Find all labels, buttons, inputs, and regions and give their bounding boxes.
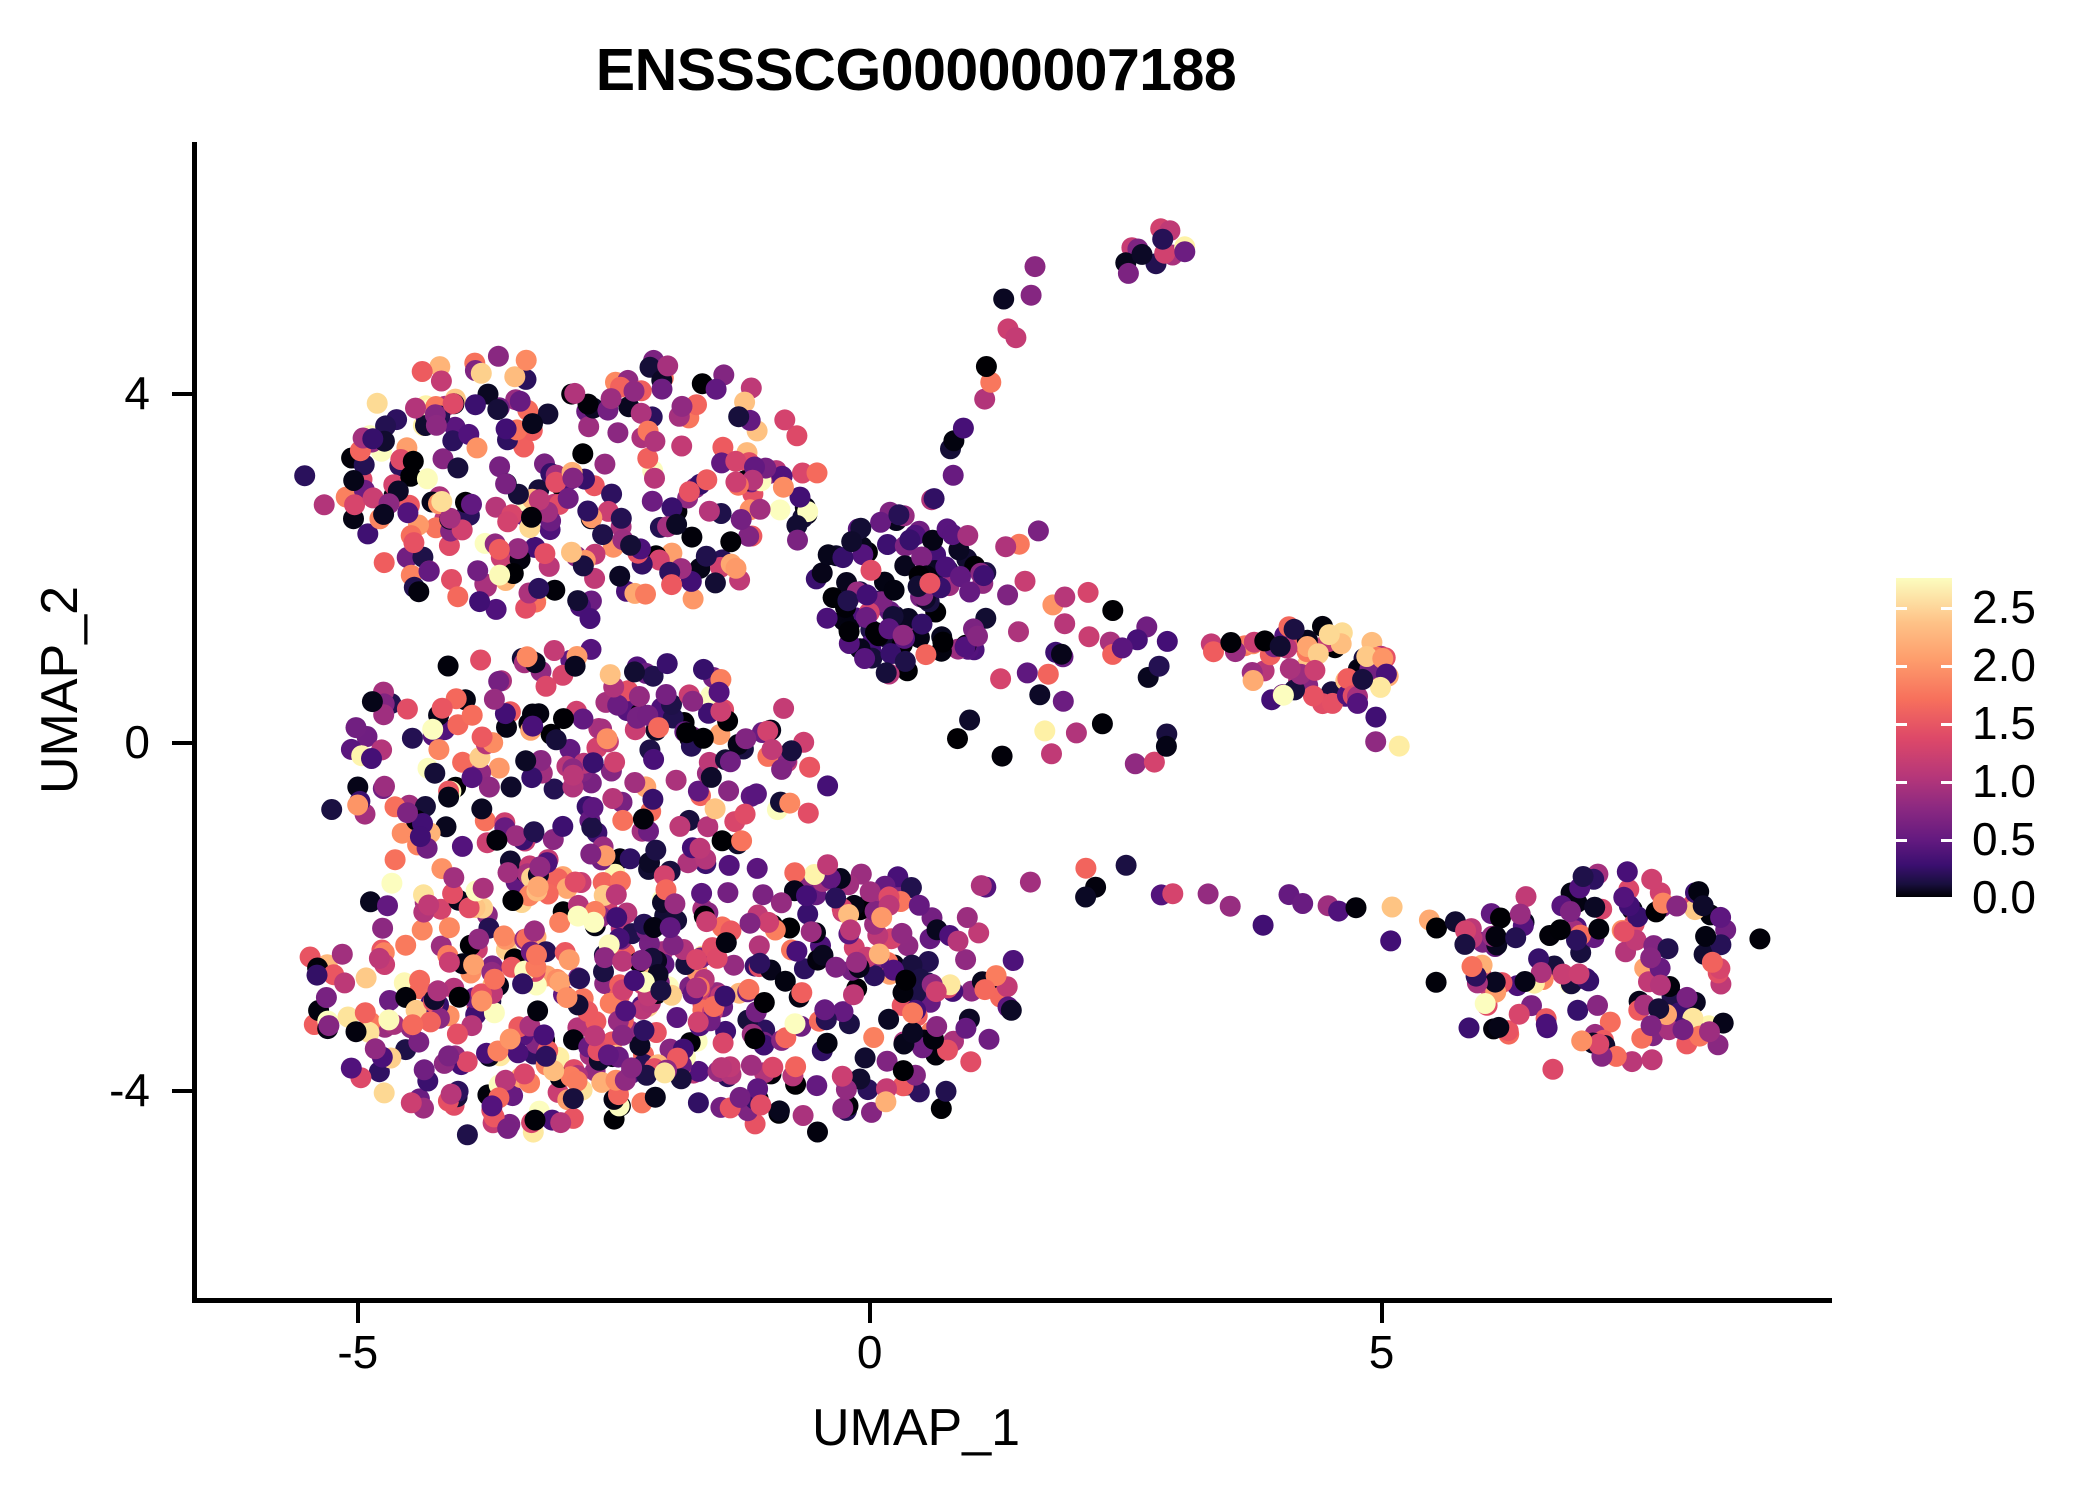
scatter-point (1587, 995, 1608, 1016)
scatter-point (769, 1100, 790, 1121)
scatter-point (854, 648, 875, 669)
scatter-point (947, 728, 968, 749)
scatter-point (688, 1012, 709, 1033)
scatter-point (806, 1075, 827, 1096)
scatter-point (825, 888, 846, 909)
scatter-point (666, 514, 687, 535)
scatter-point (344, 494, 365, 515)
scatter-point (412, 361, 433, 382)
scatter-point (374, 552, 395, 573)
scatter-point (712, 830, 733, 851)
scatter-point (558, 488, 579, 509)
scatter-point (609, 566, 630, 587)
scatter-point (967, 626, 988, 647)
scatter-point (403, 532, 424, 553)
scatter-point (462, 705, 483, 726)
scatter-point (546, 729, 567, 750)
scatter-point (798, 803, 819, 824)
scatter-point (633, 809, 654, 830)
colorbar-label-1-5: 1.5 (1972, 696, 2036, 750)
scatter-point (1462, 956, 1483, 977)
y-tick-mark-neg4 (172, 1089, 192, 1093)
scatter-point (807, 1122, 828, 1143)
scatter-point (397, 699, 418, 720)
scatter-point (911, 547, 932, 568)
scatter-point (1389, 736, 1410, 757)
scatter-point (841, 531, 862, 552)
scatter-point (424, 763, 445, 784)
scatter-point (565, 656, 586, 677)
scatter-point (373, 504, 394, 525)
scatter-point (660, 917, 681, 938)
scatter-point (955, 949, 976, 970)
y-tick-mark-0 (172, 741, 192, 745)
scatter-point (567, 590, 588, 611)
scatter-point (720, 531, 741, 552)
scatter-point (1640, 947, 1661, 968)
scatter-point (1273, 685, 1294, 706)
scatter-point (1475, 993, 1496, 1014)
scatter-point (645, 1087, 666, 1108)
scatter-point (1695, 926, 1716, 947)
scatter-point (690, 838, 711, 859)
scatter-point (688, 1092, 709, 1113)
colorbar-tick-1-0-right (1941, 781, 1952, 784)
scatter-point (728, 406, 749, 427)
scatter-point (563, 1088, 584, 1109)
scatter-point (536, 1046, 557, 1067)
scatter-point (1380, 930, 1401, 951)
scatter-point (536, 676, 557, 697)
scatter-point (343, 470, 364, 491)
scatter-point (959, 582, 980, 603)
scatter-point (902, 1022, 923, 1043)
scatter-point (361, 748, 382, 769)
scatter-point (1550, 919, 1571, 940)
scatter-point (431, 371, 452, 392)
scatter-point (666, 770, 687, 791)
colorbar-tick-0-5-left (1896, 839, 1907, 842)
scatter-point (1677, 987, 1698, 1008)
scatter-point (496, 418, 517, 439)
scatter-point (1490, 908, 1511, 929)
scatter-point (527, 1000, 548, 1021)
scatter-point (569, 968, 590, 989)
scatter-point (731, 830, 752, 851)
scatter-point (993, 289, 1014, 310)
scatter-point (1079, 626, 1100, 647)
scatter-point (523, 821, 544, 842)
scatter-point (661, 574, 682, 595)
scatter-point (1034, 720, 1055, 741)
scatter-point (1584, 897, 1605, 918)
scatter-point (562, 468, 583, 489)
scatter-point (1243, 670, 1264, 691)
scatter-point (746, 783, 767, 804)
scatter-point (757, 721, 778, 742)
scatter-point (899, 529, 920, 550)
scatter-point (731, 509, 752, 530)
scatter-point (891, 923, 912, 944)
scatter-point (656, 684, 677, 705)
scatter-point (909, 895, 930, 916)
colorbar-label-2-5: 2.5 (1972, 580, 2036, 634)
scatter-point (1132, 244, 1153, 265)
scatter-point (825, 957, 846, 978)
scatter-point (497, 1118, 518, 1139)
scatter-point (346, 717, 367, 738)
scatter-point (846, 952, 867, 973)
scatter-point (1054, 587, 1075, 608)
y-axis-line (192, 142, 197, 1303)
scatter-point (550, 1112, 571, 1133)
scatter-point (876, 662, 897, 683)
scatter-point (839, 621, 860, 642)
scatter-point (449, 987, 470, 1008)
scatter-point (771, 892, 792, 913)
scatter-point (318, 1015, 339, 1036)
scatter-point (402, 728, 423, 749)
scatter-point (1092, 713, 1113, 734)
scatter-point (321, 799, 342, 820)
scatter-point (621, 1057, 642, 1078)
scatter-point (620, 848, 641, 869)
scatter-point (1588, 919, 1609, 940)
scatter-point (316, 987, 337, 1008)
scatter-point (1003, 950, 1024, 971)
scatter-point (710, 701, 731, 722)
scatter-point (895, 651, 916, 672)
scatter-point (470, 650, 491, 671)
scatter-point (372, 918, 393, 939)
scatter-point (607, 422, 628, 443)
scatter-point (528, 578, 549, 599)
scatter-point (1152, 229, 1173, 250)
scatter-point (482, 1095, 503, 1116)
x-tick-mark-0 (868, 1303, 872, 1323)
scatter-point (686, 949, 707, 970)
scatter-point (397, 502, 418, 523)
scatter-point (1303, 685, 1324, 706)
scatter-point (774, 409, 795, 430)
scatter-point (1078, 582, 1099, 603)
scatter-point (426, 415, 447, 436)
scatter-point (624, 661, 645, 682)
scatter-point (1454, 934, 1475, 955)
scatter-point (895, 970, 916, 991)
scatter-point (510, 391, 531, 412)
scatter-point (374, 1082, 395, 1103)
scatter-point (486, 830, 507, 851)
scatter-point (932, 632, 953, 653)
scatter-point (521, 507, 542, 528)
scatter-point (484, 689, 505, 710)
scatter-point (1352, 669, 1373, 690)
scatter-point (1041, 743, 1062, 764)
colorbar-label-2-0: 2.0 (1972, 638, 2036, 692)
scatter-point (948, 931, 969, 952)
scatter-point (701, 767, 722, 788)
scatter-point (893, 1060, 914, 1081)
scatter-point (447, 1024, 468, 1045)
scatter-point (801, 921, 822, 942)
colorbar-tick-2-5-left (1896, 607, 1907, 610)
scatter-point (696, 546, 717, 567)
scatter-point (580, 844, 601, 865)
scatter-point (773, 477, 794, 498)
scatter-point (1054, 613, 1075, 634)
scatter-point (1008, 621, 1029, 642)
scatter-point (781, 740, 802, 761)
x-tick-mark-neg5 (356, 1303, 360, 1323)
scatter-point (516, 350, 537, 371)
scatter-point (417, 468, 438, 489)
scatter-point (600, 664, 621, 685)
scatter-point (1116, 855, 1137, 876)
scatter-point (877, 534, 898, 555)
x-axis-title: UMAP_1 (0, 1398, 1832, 1458)
scatter-point (522, 716, 543, 737)
scatter-point (860, 881, 881, 902)
scatter-point (870, 512, 891, 533)
x-tick-label-0: 0 (790, 1325, 950, 1379)
scatter-point (561, 542, 582, 563)
x-axis-line (192, 1298, 1832, 1303)
scatter-point (747, 858, 768, 879)
scatter-point (762, 1057, 783, 1078)
scatter-point (584, 1025, 605, 1046)
scatter-point (1025, 256, 1046, 277)
scatter-point (878, 1009, 899, 1030)
scatter-point (493, 925, 514, 946)
scatter-point (1542, 1059, 1563, 1080)
scatter-point (960, 1051, 981, 1072)
scatter-point (686, 977, 707, 998)
scatter-point (667, 1007, 688, 1028)
scatter-point (717, 882, 738, 903)
colorbar-gradient (1896, 578, 1952, 897)
scatter-point (629, 686, 650, 707)
scatter-point (807, 462, 828, 483)
scatter-point (1365, 731, 1386, 752)
scatter-point (1280, 658, 1301, 679)
scatter-point (525, 1110, 546, 1131)
scatter-point (706, 379, 727, 400)
scatter-point (495, 473, 516, 494)
scatter-points-layer (194, 142, 1832, 1300)
scatter-point (758, 912, 779, 933)
scatter-point (973, 565, 994, 586)
scatter-point (580, 608, 601, 629)
scatter-point (620, 535, 641, 556)
scatter-point (915, 644, 936, 665)
scatter-point (612, 1025, 633, 1046)
scatter-point (498, 862, 519, 883)
scatter-point (601, 388, 622, 409)
scatter-point (401, 1092, 422, 1113)
page-title: ENSSSCG00000007188 (0, 36, 1832, 104)
scatter-point (420, 1011, 441, 1032)
scatter-point (1038, 664, 1059, 685)
scatter-point (385, 849, 406, 870)
scatter-point (461, 494, 482, 515)
scatter-point (1710, 907, 1731, 928)
scatter-point (957, 525, 978, 546)
scatter-point (567, 1071, 588, 1092)
scatter-point (314, 494, 335, 515)
scatter-point (294, 465, 315, 486)
scatter-point (1017, 662, 1038, 683)
scatter-point (377, 895, 398, 916)
scatter-point (642, 491, 663, 512)
scatter-point (612, 810, 633, 831)
scatter-point (797, 904, 818, 925)
scatter-point (644, 468, 665, 489)
scatter-point (438, 787, 459, 808)
scatter-point (735, 728, 756, 749)
scatter-point (403, 451, 424, 472)
scatter-point (564, 383, 585, 404)
scatter-point (971, 875, 992, 896)
scatter-point (526, 944, 547, 965)
scatter-point (863, 1027, 884, 1048)
colorbar-tick-1-0-left (1896, 781, 1907, 784)
scatter-point (869, 944, 890, 965)
scatter-point (1510, 904, 1531, 925)
scatter-point (926, 981, 947, 1002)
scatter-point (770, 499, 791, 520)
scatter-point (607, 695, 628, 716)
scatter-point (369, 948, 390, 969)
scatter-point (754, 992, 775, 1013)
scatter-point (696, 911, 717, 932)
scatter-point (409, 970, 430, 991)
scatter-point (1118, 263, 1139, 284)
scatter-point (832, 1066, 853, 1087)
scatter-point (912, 614, 933, 635)
scatter-point (469, 591, 490, 612)
scatter-point (615, 1000, 636, 1021)
scatter-point (959, 710, 980, 731)
scatter-point (1426, 972, 1447, 993)
scatter-point (1505, 927, 1526, 948)
scatter-point (1053, 691, 1074, 712)
scatter-point (635, 584, 656, 605)
scatter-point (1028, 520, 1049, 541)
scatter-point (471, 991, 492, 1012)
scatter-point (1536, 1014, 1557, 1035)
scatter-point (817, 1033, 838, 1054)
scatter-point (1370, 677, 1391, 698)
scatter-point (439, 917, 460, 938)
scatter-point (840, 919, 861, 940)
scatter-point (1666, 896, 1687, 917)
scatter-point (648, 717, 669, 738)
scatter-point (791, 982, 812, 1003)
scatter-point (506, 825, 527, 846)
colorbar-label-0-5: 0.5 (1972, 812, 2036, 866)
scatter-point (508, 538, 529, 559)
scatter-point (657, 355, 678, 376)
scatter-point (471, 798, 492, 819)
scatter-point (457, 1051, 478, 1072)
scatter-point (515, 750, 536, 771)
scatter-point (1486, 926, 1507, 947)
scatter-point (1749, 928, 1770, 949)
scatter-point (1509, 1004, 1530, 1025)
scatter-point (381, 873, 402, 894)
scatter-point (976, 356, 997, 377)
scatter-point (463, 954, 484, 975)
scatter-point (1284, 619, 1305, 640)
scatter-point (468, 929, 489, 950)
y-tick-mark-4 (172, 392, 192, 396)
scatter-point (654, 1062, 675, 1083)
scatter-point (524, 920, 545, 941)
scatter-point (714, 986, 735, 1007)
scatter-point (563, 765, 584, 786)
scatter-point (955, 1018, 976, 1039)
scatter-point (832, 1098, 853, 1119)
scatter-point (893, 625, 914, 646)
scatter-point (559, 949, 580, 970)
scatter-point (438, 1045, 459, 1066)
scatter-point (439, 952, 460, 973)
scatter-point (583, 752, 604, 773)
x-tick-label-neg5: -5 (278, 1325, 438, 1379)
scatter-point (1650, 975, 1671, 996)
scatter-point (594, 947, 615, 968)
scatter-point (410, 826, 431, 847)
scatter-point (500, 1029, 521, 1050)
scatter-point (814, 999, 835, 1020)
scatter-point (762, 739, 783, 760)
scatter-point (1220, 896, 1241, 917)
scatter-point (643, 749, 664, 770)
scatter-point (990, 668, 1011, 689)
scatter-point (1365, 707, 1386, 728)
scatter-point (604, 752, 625, 773)
scatter-point (583, 797, 604, 818)
scatter-point (502, 890, 523, 911)
scatter-point (943, 465, 964, 486)
scatter-point (725, 451, 746, 472)
scatter-point (512, 973, 533, 994)
scatter-point (606, 907, 627, 928)
scatter-point (730, 1087, 751, 1108)
scatter-point (1102, 600, 1123, 621)
scatter-point (356, 967, 377, 988)
scatter-point (855, 1047, 876, 1068)
scatter-point (395, 935, 416, 956)
scatter-point (557, 987, 578, 1008)
scatter-point (577, 501, 598, 522)
scatter-point (735, 804, 756, 825)
scatter-point (779, 793, 800, 814)
scatter-point (438, 656, 459, 677)
scatter-point (750, 499, 771, 520)
scatter-point (419, 561, 440, 582)
scatter-point (374, 776, 395, 797)
scatter-point (624, 381, 645, 402)
scatter-point (657, 653, 678, 674)
scatter-point (412, 920, 433, 941)
scatter-point (514, 1063, 535, 1084)
scatter-point (744, 1028, 765, 1049)
scatter-point (926, 1016, 947, 1037)
scatter-point (1174, 241, 1195, 262)
scatter-point (1571, 1030, 1592, 1051)
